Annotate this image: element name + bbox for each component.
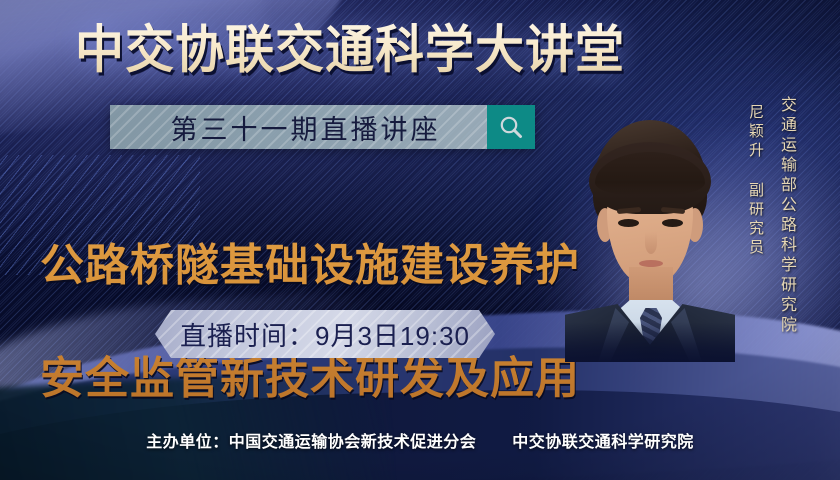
search-button[interactable] bbox=[487, 105, 535, 149]
portrait-eye-left bbox=[618, 219, 639, 227]
portrait-nose bbox=[645, 232, 657, 254]
speaker-name-title: 尼颖升 副研究员 bbox=[745, 104, 766, 258]
organizer-primary: 主办单位：中国交通运输协会新技术促进分会 bbox=[146, 434, 476, 451]
lecture-title-line-1: 公路桥隧基础设施建设养护 bbox=[40, 238, 580, 294]
portrait-bottom-fade bbox=[565, 322, 735, 362]
organizer-footer: 主办单位：中国交通运输协会新技术促进分会 中交协联交通科学研究院 bbox=[0, 428, 840, 452]
poster-header-title: 中交协联交通科学大讲堂 bbox=[0, 20, 840, 82]
broadcast-time-badge: 直播时间：9月3日19:30 bbox=[155, 310, 495, 358]
broadcast-time-label: 直播时间：9月3日19:30 bbox=[180, 316, 470, 353]
episode-label: 第三十一期直播讲座 bbox=[110, 105, 487, 149]
organizer-secondary: 中交协联交通科学研究院 bbox=[512, 434, 694, 451]
speaker-organization: 交通运输部公路科学研究院 bbox=[774, 96, 798, 336]
portrait-eye-right bbox=[662, 219, 683, 227]
search-icon bbox=[498, 114, 524, 140]
portrait-mouth bbox=[639, 260, 663, 267]
live-stream-poster: 中交协联交通科学大讲堂 第三十一期直播讲座 公路桥隧基础设施建设养护 安全监管新… bbox=[0, 0, 840, 480]
lecture-title-line-2: 安全监管新技术研发及应用 bbox=[40, 351, 580, 407]
speaker-portrait bbox=[565, 112, 735, 362]
episode-banner: 第三十一期直播讲座 bbox=[110, 105, 535, 149]
